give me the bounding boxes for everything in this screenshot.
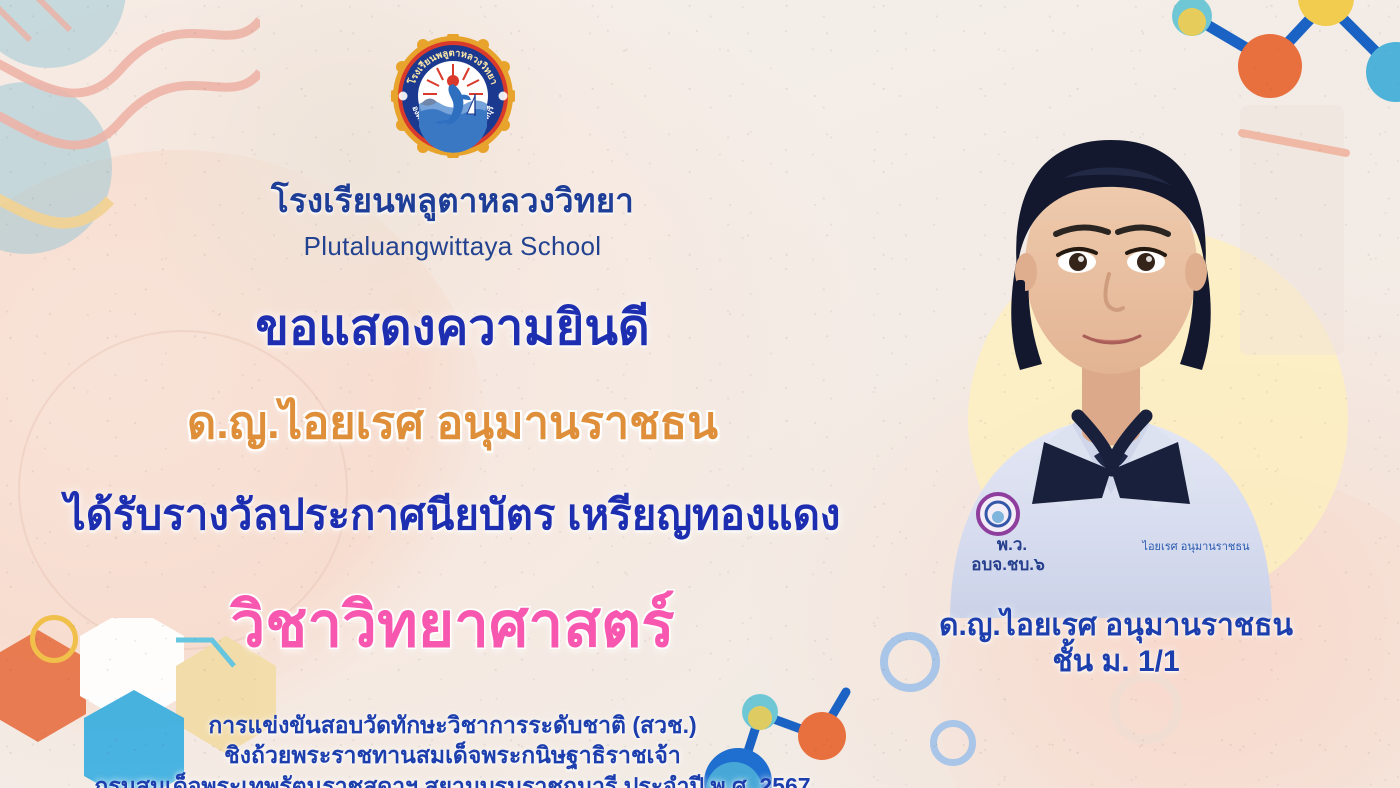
certificate-banner: พ.ว. อบจ.ชบ.๖ ไอยเรศ อนุมานราชธน xyxy=(0,0,1400,788)
contest-line-1: การแข่งขันสอบวัดทักษะวิชาการระดับชาติ (ส… xyxy=(94,710,810,740)
contest-line-2: ชิงถ้วยพระราชทานสมเด็จพระกนิษฐาธิราชเจ้า xyxy=(94,740,810,770)
school-name-thai: โรงเรียนพลูตาหลวงวิทยา xyxy=(271,174,634,227)
uniform-crest-badge xyxy=(978,494,1018,534)
school-name-english: Plutaluangwittaya School xyxy=(304,231,602,262)
decorative-ring-blue xyxy=(930,720,976,766)
subject-heading: วิชาวิทยาศาสตร์ xyxy=(230,576,674,674)
student-portrait-photo: พ.ว. อบจ.ชบ.๖ ไอยเรศ อนุมานราชธน xyxy=(896,58,1326,618)
svg-text:อบจ.ชบ.๖: อบจ.ชบ.๖ xyxy=(971,555,1045,574)
decorative-ring-blush xyxy=(1110,672,1182,744)
svg-text:ไอยเรศ อนุมานราชธน: ไอยเรศ อนุมานราชธน xyxy=(1141,540,1250,553)
svg-text:พ.ว.: พ.ว. xyxy=(997,535,1027,554)
caption-student-name: ด.ญ.ไอยเรศ อนุมานราชธน xyxy=(896,608,1336,644)
contest-line-3: กรมสมเด็จพระเทพรัตนราชสุดาฯ สยามบรมราชกุ… xyxy=(94,771,810,788)
caption-student-class: ชั้น ม. 1/1 xyxy=(896,644,1336,680)
student-name-heading: ด.ญ.ไอยเรศ อนุมานราชธน xyxy=(187,386,718,458)
contest-details: การแข่งขันสอบวัดทักษะวิชาการระดับชาติ (ส… xyxy=(94,710,810,788)
congratulations-heading: ขอแสดงความยินดี xyxy=(255,288,649,366)
school-crest-emblem: โรงเรียนพลูตาหลวงวิทยา องค์การบริหารส่วน… xyxy=(391,34,515,158)
portrait-caption: ด.ญ.ไอยเรศ อนุมานราชธน ชั้น ม. 1/1 xyxy=(896,608,1336,680)
award-description: ได้รับรางวัลประกาศนียบัตร เหรียญทองแดง xyxy=(65,482,841,548)
